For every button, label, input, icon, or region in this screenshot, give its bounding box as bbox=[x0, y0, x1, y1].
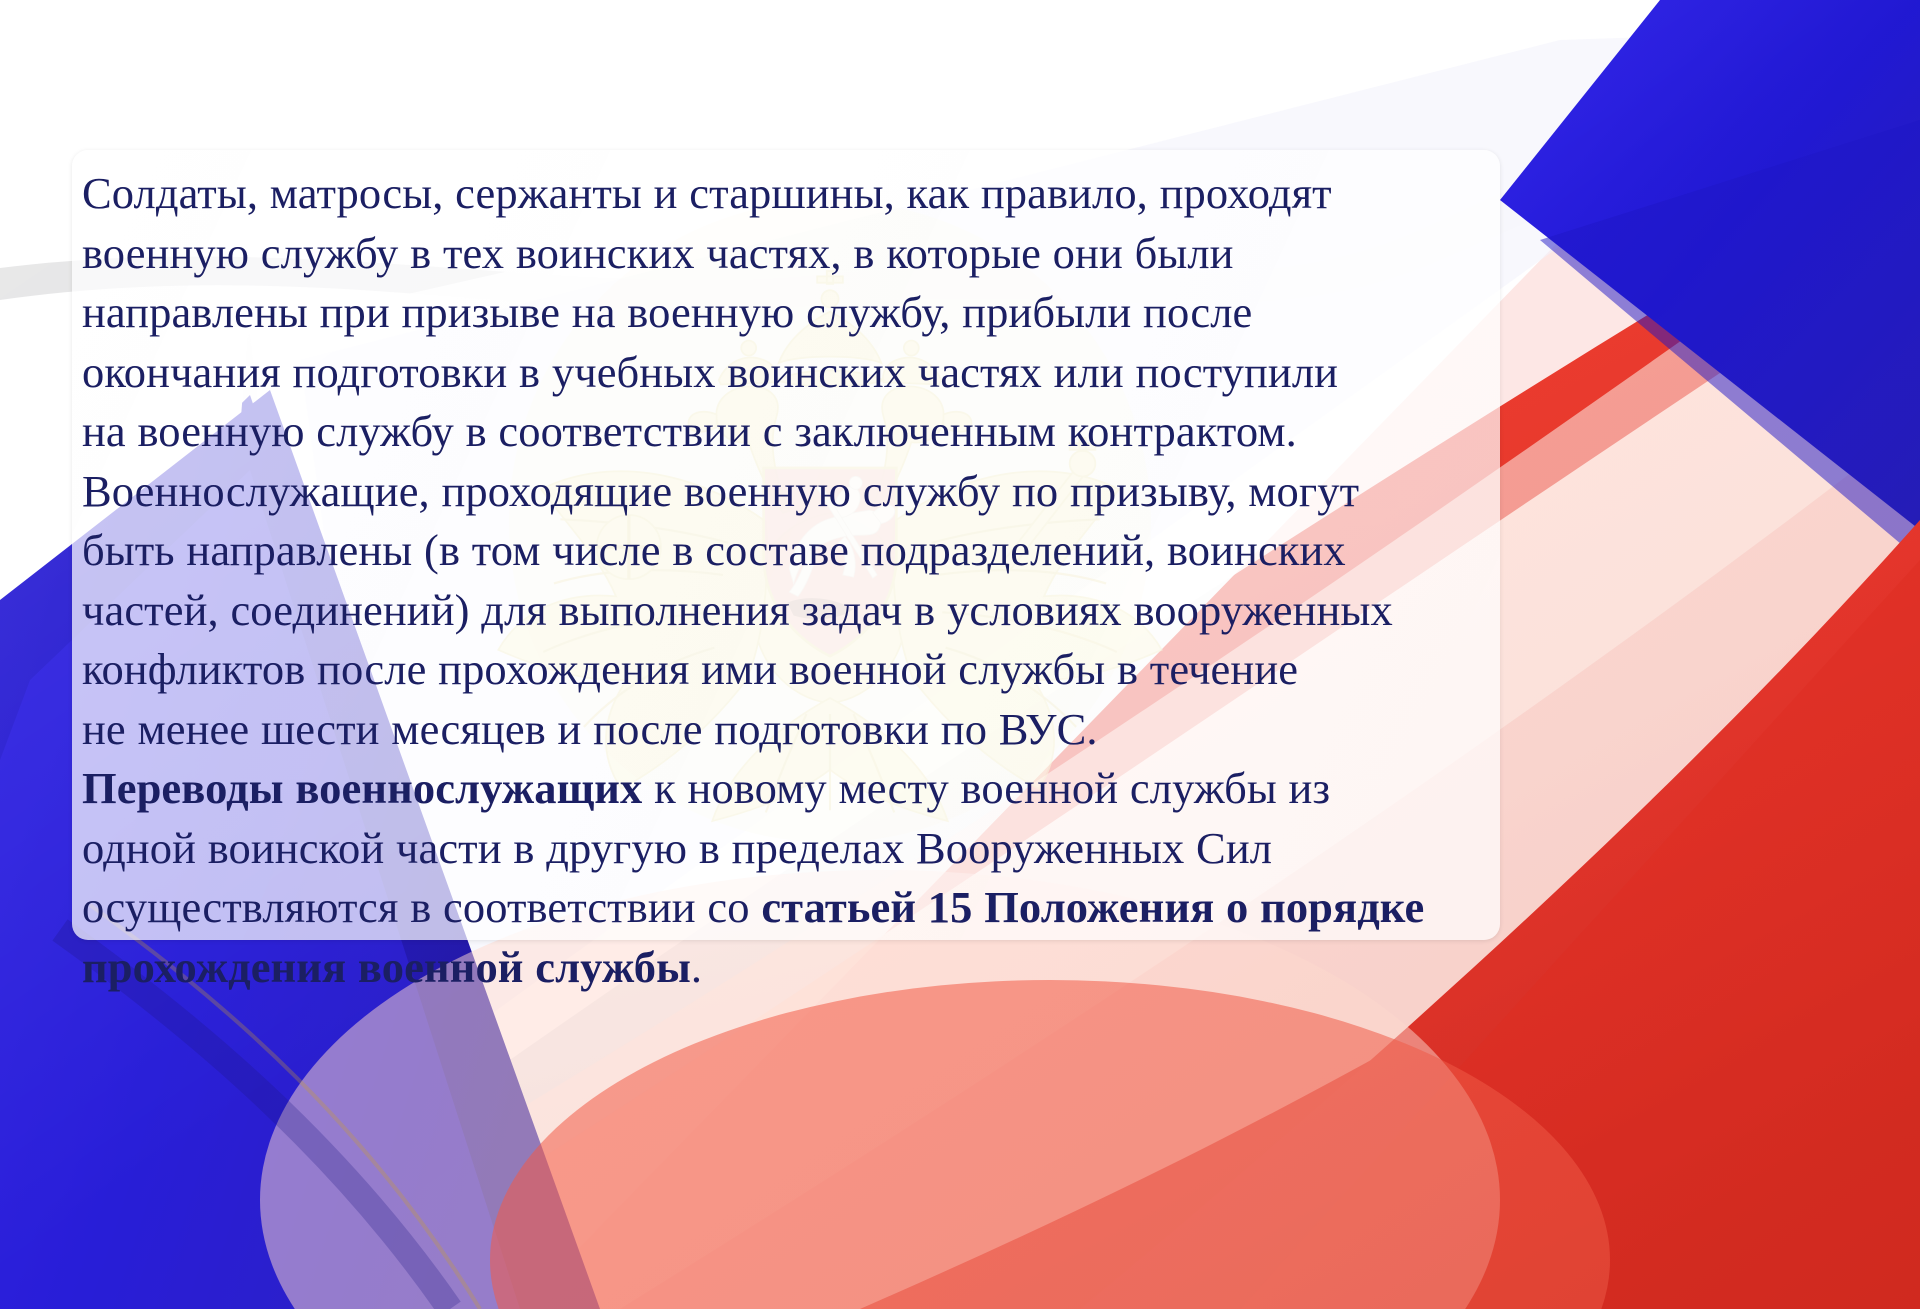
text-run: окончания подготовки в учебных воинских … bbox=[82, 347, 1338, 397]
text-line: не менее шести месяцев и после подготовк… bbox=[82, 700, 1478, 760]
text-panel: Солдаты, матросы, сержанты и старшины, к… bbox=[72, 150, 1500, 940]
text-line: окончания подготовки в учебных воинских … bbox=[82, 343, 1478, 403]
text-line: Военнослужащие, проходящие военную служб… bbox=[82, 462, 1478, 522]
text-run: частей, соединений) для выполнения задач… bbox=[82, 585, 1393, 635]
text-run: Военнослужащие, проходящие военную служб… bbox=[82, 466, 1359, 516]
text-run: направлены при призыве на военную службу… bbox=[82, 287, 1252, 337]
text-run: осуществляются в соответствии со bbox=[82, 882, 761, 932]
text-line: осуществляются в соответствии со статьей… bbox=[82, 878, 1478, 938]
text-run: Солдаты, матросы, сержанты и старшины, к… bbox=[82, 168, 1332, 218]
text-run: на военную службу в соответствии с заклю… bbox=[82, 406, 1297, 456]
text-line: конфликтов после прохождения ими военной… bbox=[82, 640, 1478, 700]
emphasis-run: статьей 15 Положения о порядке bbox=[761, 882, 1424, 932]
text-line: частей, соединений) для выполнения задач… bbox=[82, 581, 1478, 641]
text-run: . bbox=[691, 942, 702, 992]
text-line: быть направлены (в том числе в составе п… bbox=[82, 521, 1478, 581]
text-line: на военную службу в соответствии с заклю… bbox=[82, 402, 1478, 462]
text-run: быть направлены (в том числе в составе п… bbox=[82, 525, 1346, 575]
emphasis-run: Переводы военнослужащих bbox=[82, 763, 642, 813]
text-line: одной воинской части в другую в пределах… bbox=[82, 819, 1478, 879]
text-line: Солдаты, матросы, сержанты и старшины, к… bbox=[82, 164, 1478, 224]
text-line: военную службу в тех воинских частях, в … bbox=[82, 224, 1478, 284]
text-run: военную службу в тех воинских частях, в … bbox=[82, 228, 1234, 278]
text-run: не менее шести месяцев и после подготовк… bbox=[82, 704, 1098, 754]
emphasis-run: прохождения военной службы bbox=[82, 942, 691, 992]
slide-body-text: Солдаты, матросы, сержанты и старшины, к… bbox=[82, 164, 1478, 997]
text-line: направлены при призыве на военную службу… bbox=[82, 283, 1478, 343]
text-run: одной воинской части в другую в пределах… bbox=[82, 823, 1272, 873]
text-run: конфликтов после прохождения ими военной… bbox=[82, 644, 1298, 694]
text-line: Переводы военнослужащих к новому месту в… bbox=[82, 759, 1478, 819]
text-run: к новому месту военной службы из bbox=[642, 763, 1330, 813]
slide-canvas: Солдаты, матросы, сержанты и старшины, к… bbox=[0, 0, 1920, 1309]
text-line: прохождения военной службы. bbox=[82, 938, 1478, 998]
